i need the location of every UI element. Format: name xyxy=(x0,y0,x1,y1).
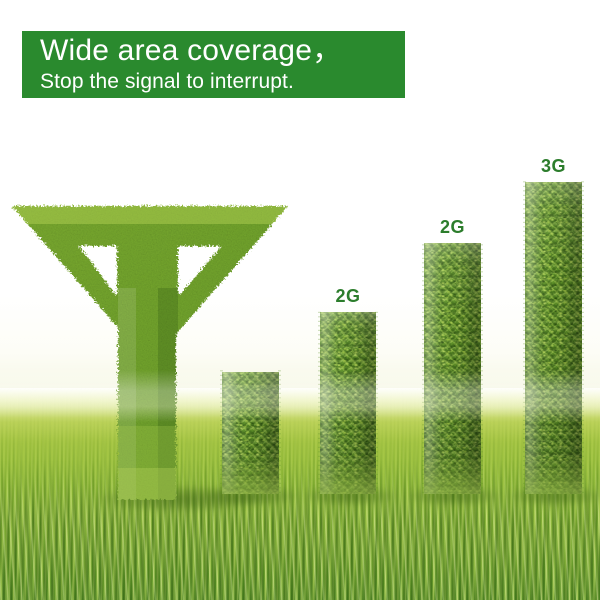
signal-bar-4 xyxy=(525,182,582,494)
bar-2-vertical-shading xyxy=(320,312,376,494)
banner-headline: Wide area coverage， xyxy=(40,33,405,69)
signal-bar-2 xyxy=(320,312,376,494)
signal-bar-3-label: 2G xyxy=(424,217,481,238)
banner-subline: Stop the signal to interrupt. xyxy=(40,69,405,95)
headline-banner: Wide area coverage， Stop the signal to i… xyxy=(22,31,405,98)
antenna-diamond-icon xyxy=(0,168,300,500)
signal-tower-topiary xyxy=(0,168,300,500)
signal-bar-3 xyxy=(424,243,481,494)
bar-3-vertical-shading xyxy=(424,243,481,494)
signal-bar-4-label: 3G xyxy=(525,156,582,177)
signal-bar-2-label: 2G xyxy=(320,286,376,307)
bar-4-vertical-shading xyxy=(525,182,582,494)
promotional-banner-image: 2G 2G 3G Wide area coverage， Stop the si… xyxy=(0,0,600,600)
